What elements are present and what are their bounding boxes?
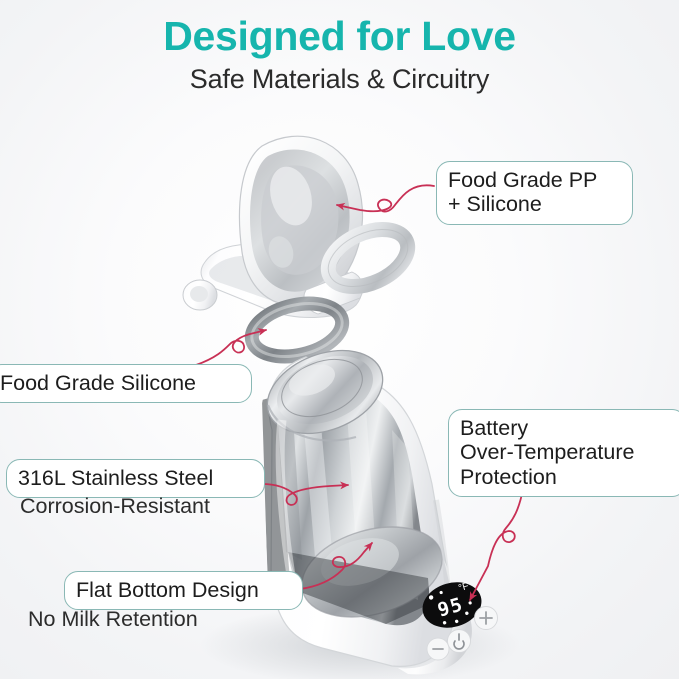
caption-no-milk-retention: No Milk Retention — [28, 608, 198, 632]
connector-food-grade-silicone — [196, 330, 266, 365]
connector-stainless-steel — [262, 484, 348, 505]
callout-battery-over-temperature-protection: Battery Over-Temperature Protection — [448, 409, 679, 497]
caption-corrosion-resistant: Corrosion-Resistant — [20, 495, 210, 519]
connector-battery-protection — [470, 489, 523, 600]
infographic-canvas: 95 °F — [0, 0, 679, 679]
callout-316l-stainless-steel: 316L Stainless Steel — [6, 459, 265, 498]
callout-food-grade-silicone: Food Grade Silicone — [0, 364, 252, 403]
callout-food-grade-pp: Food Grade PP + Silicone — [436, 161, 633, 225]
connector-food-grade-pp — [337, 185, 434, 211]
connector-flat-bottom — [300, 543, 372, 589]
callout-flat-bottom-design: Flat Bottom Design — [64, 571, 303, 610]
